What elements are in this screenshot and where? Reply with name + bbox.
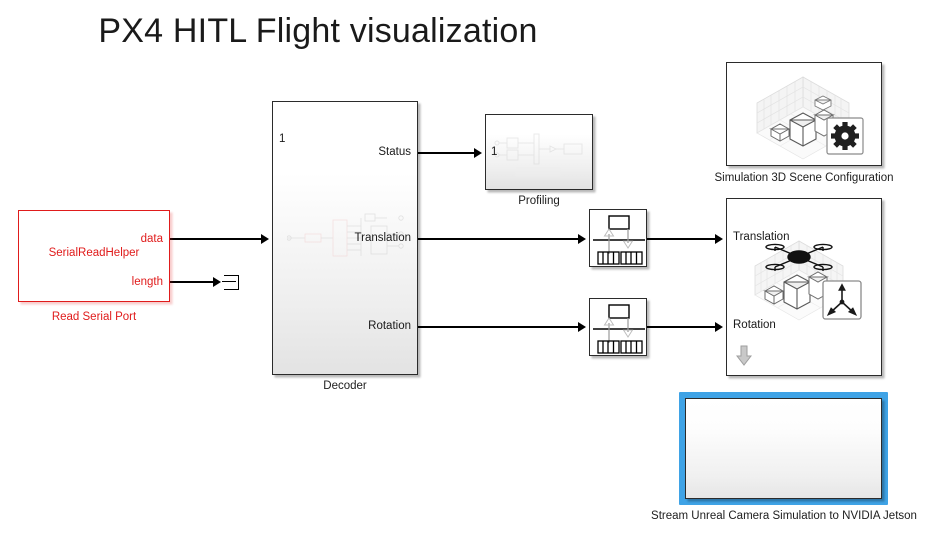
- signal-line-conv-to-actor-translation: [647, 238, 715, 240]
- terminator-block[interactable]: [224, 275, 239, 290]
- signal-line-translation-to-conv: [418, 238, 578, 240]
- arrowhead-conv-translation-in: [578, 234, 586, 244]
- decoder-inport-label: 1: [279, 133, 285, 145]
- outport-label-length: length: [132, 276, 163, 288]
- decoder-outport-translation: Translation: [355, 232, 411, 244]
- profiling-inport-label: 1: [491, 146, 497, 158]
- arrowhead-actor-rotation-in: [715, 322, 723, 332]
- profiling-block[interactable]: 1: [485, 114, 593, 190]
- arrowhead-profiling-in: [474, 148, 482, 158]
- sim3d-scene-configuration-caption: Simulation 3D Scene Configuration: [676, 171, 932, 185]
- decoder-caption: Decoder: [272, 379, 418, 393]
- signal-conversion-block-rotation[interactable]: [589, 298, 647, 356]
- stream-unreal-caption: Stream Unreal Camera Simulation to NVIDI…: [626, 509, 938, 523]
- signal-line-length-to-terminator: [170, 281, 214, 283]
- arrowhead-terminator-in: [213, 277, 221, 287]
- signal-conversion-icon: [590, 210, 648, 268]
- download-arrow-icon: [736, 345, 752, 367]
- decoder-outport-rotation: Rotation: [368, 320, 411, 332]
- arrowhead-conv-rotation-in: [578, 322, 586, 332]
- signal-line-data-to-decoder: [170, 238, 262, 240]
- decoder-block[interactable]: 1 Status Translation Rotation: [272, 101, 418, 375]
- simulation-3d-scene-configuration-block[interactable]: [726, 62, 882, 166]
- outport-label-data: data: [141, 233, 163, 245]
- signal-conversion-icon: [590, 299, 648, 357]
- read-serial-block-name: SerialReadHelper: [19, 247, 169, 259]
- simulation-3d-actor-block[interactable]: Translation Rotation: [726, 198, 882, 376]
- read-serial-port-block[interactable]: data SerialReadHelper length: [18, 210, 170, 302]
- signal-line-status-to-profiling: [418, 152, 475, 154]
- arrowhead-decoder-in: [261, 234, 269, 244]
- actor-inport-translation: Translation: [733, 231, 789, 243]
- signal-line-conv-to-actor-rotation: [647, 326, 715, 328]
- arrowhead-actor-translation-in: [715, 234, 723, 244]
- profiling-caption: Profiling: [485, 194, 593, 208]
- signal-line-rotation-to-conv: [418, 326, 578, 328]
- stream-unreal-camera-block[interactable]: [685, 398, 882, 499]
- read-serial-caption: Read Serial Port: [18, 310, 170, 324]
- profiling-preview-icon: [494, 131, 586, 179]
- page-title: PX4 HITL Flight visualization: [0, 12, 636, 51]
- decoder-outport-status: Status: [378, 146, 411, 158]
- signal-conversion-block-translation[interactable]: [589, 209, 647, 267]
- actor-inport-rotation: Rotation: [733, 319, 776, 331]
- scene-gear-icon: [727, 63, 883, 167]
- simulink-canvas[interactable]: PX4 HITL Flight visualization data Seria…: [0, 0, 938, 539]
